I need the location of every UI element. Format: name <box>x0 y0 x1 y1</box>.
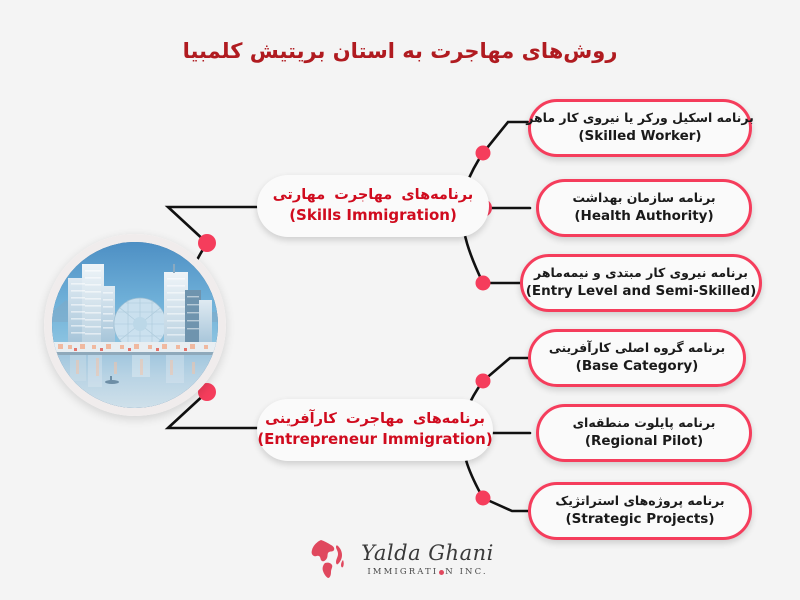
leaf-regional-pilot[interactable]: برنامه پایلوت منطقه‌ای (Regional Pilot) <box>536 404 752 462</box>
hero-photo-frame <box>44 234 226 416</box>
leaf-health-authority[interactable]: برنامه سازمان بهداشت (Health Authority) <box>536 179 752 237</box>
globe-icon <box>305 534 353 586</box>
logo-text-block: Yalda Ghani IMMIGRATI N INC. <box>355 543 500 577</box>
leaf-base-category-label-en: (Base Category) <box>576 358 699 376</box>
infographic-canvas: روش‌های مهاجرت به استان بریتیش کلمبیا <box>0 0 800 600</box>
leaf-base-category-label-fa: برنامه گروه اصلی کارآفرینی <box>549 340 725 356</box>
logo-company-name: Yalda Ghani <box>361 543 494 564</box>
skills-dot-bottom <box>476 276 491 291</box>
logo-tagline: IMMIGRATI N INC. <box>367 567 487 577</box>
leaf-entry-level-semi-skilled[interactable]: برنامه نیروی کار مبتدی و نیمه‌ماهر (Entr… <box>520 254 762 312</box>
logo-tagline-dot <box>439 570 444 575</box>
branch-skills-immigration[interactable]: برنامه‌های مهاجرت مهارتی (Skills Immigra… <box>257 175 489 237</box>
leaf-regional-pilot-label-fa: برنامه پایلوت منطقه‌ای <box>573 415 716 431</box>
leaf-health-authority-label-fa: برنامه سازمان بهداشت <box>572 190 715 206</box>
branch-entrepreneur-immigration[interactable]: برنامه‌های مهاجرت کارآفرینی (Entrepreneu… <box>257 399 493 461</box>
leaf-entry-level-label-en: (Entry Level and Semi-Skilled) <box>526 283 757 301</box>
leaf-strategic-projects-label-fa: برنامه پروژه‌های استراتژیک <box>555 493 724 509</box>
branch-skills-label-en: (Skills Immigration) <box>289 206 457 226</box>
vancouver-skyline-photo <box>52 242 218 408</box>
branch-entrepreneur-label-fa: برنامه‌های مهاجرت کارآفرینی <box>265 410 485 428</box>
leaf-regional-pilot-label-en: (Regional Pilot) <box>585 433 703 451</box>
skills-dot-top <box>476 146 491 161</box>
leaf-skilled-worker-label-fa: برنامه اسکیل ورکر یا نیروی کار ماهر <box>526 110 754 126</box>
leaf-base-category[interactable]: برنامه گروه اصلی کارآفرینی (Base Categor… <box>528 329 746 387</box>
hub-dot-top <box>198 234 216 252</box>
leaf-skilled-worker[interactable]: برنامه اسکیل ورکر یا نیروی کار ماهر (Ski… <box>528 99 752 157</box>
company-logo[interactable]: Yalda Ghani IMMIGRATI N INC. <box>305 534 500 586</box>
leaf-entry-level-label-fa: برنامه نیروی کار مبتدی و نیمه‌ماهر <box>534 265 748 281</box>
leaf-strategic-projects-label-en: (Strategic Projects) <box>566 511 715 529</box>
leaf-strategic-projects[interactable]: برنامه پروژه‌های استراتژیک (Strategic Pr… <box>528 482 752 540</box>
entrepreneur-dot-bottom <box>476 491 491 506</box>
page-title: روش‌های مهاجرت به استان بریتیش کلمبیا <box>0 38 800 65</box>
leaf-health-authority-label-en: (Health Authority) <box>574 208 713 226</box>
entrepreneur-dot-top <box>476 374 491 389</box>
branch-entrepreneur-label-en: (Entrepreneur Immigration) <box>257 430 492 450</box>
leaf-skilled-worker-label-en: (Skilled Worker) <box>578 128 701 146</box>
logo-tagline-left: IMMIGRATI <box>367 567 438 577</box>
branch-skills-label-fa: برنامه‌های مهاجرت مهارتی <box>273 186 474 204</box>
logo-tagline-right: N INC. <box>445 567 487 577</box>
